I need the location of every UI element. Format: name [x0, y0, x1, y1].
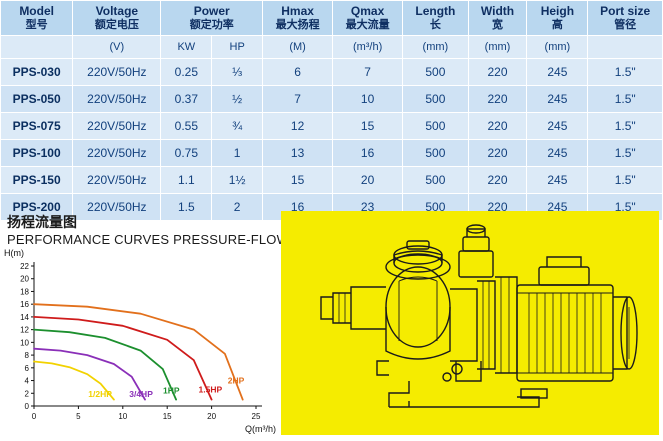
cell-heigh: 245: [527, 140, 588, 167]
pump-drawing-panel: [281, 211, 659, 435]
cell-length: 500: [403, 140, 469, 167]
cell-kw: 1.1: [161, 167, 212, 194]
svg-text:0: 0: [25, 402, 30, 411]
cell-hp: ½: [212, 86, 263, 113]
svg-text:15: 15: [163, 412, 172, 421]
svg-text:22: 22: [20, 262, 29, 271]
svg-text:0: 0: [32, 412, 37, 421]
table-row: PPS-050 220V/50Hz 0.37 ½ 7 10 500 220 24…: [1, 86, 663, 113]
unit-cell-heigh: (mm): [527, 36, 588, 59]
curve-label-1HP: 1HP: [163, 386, 180, 396]
svg-text:20: 20: [20, 275, 29, 284]
cell-hmax: 12: [263, 113, 333, 140]
table-row: PPS-075 220V/50Hz 0.55 ¾ 12 15 500 220 2…: [1, 113, 663, 140]
cell-port: 1.5": [588, 113, 663, 140]
table-unit-row: (V) KW HP (M) (m³/h) (mm) (mm) (mm): [1, 36, 663, 59]
svg-text:6: 6: [25, 364, 30, 373]
cell-kw: 0.25: [161, 59, 212, 86]
section-title-en: PERFORMANCE CURVES PRESSURE-FLOW: [7, 232, 289, 247]
unit-cell-width: (mm): [468, 36, 527, 59]
cell-hp: ⅓: [212, 59, 263, 86]
cell-hmax: 7: [263, 86, 333, 113]
cell-model: PPS-075: [1, 113, 73, 140]
cell-heigh: 245: [527, 86, 588, 113]
cell-hmax: 6: [263, 59, 333, 86]
header-cell-length: Length 长: [403, 1, 469, 36]
table-row: PPS-030 220V/50Hz 0.25 ⅓ 6 7 500 220 245…: [1, 59, 663, 86]
cell-kw: 0.37: [161, 86, 212, 113]
performance-curve-chart: H(m) Q(m³/h) 024681012141618202205101520…: [4, 248, 274, 433]
cell-width: 220: [468, 86, 527, 113]
cell-model: PPS-100: [1, 140, 73, 167]
unit-cell-hp: HP: [212, 36, 263, 59]
section-title-cn: 扬程流量图: [7, 212, 77, 232]
curve-label-2HP: 2HP: [228, 375, 245, 385]
unit-cell-length: (mm): [403, 36, 469, 59]
table-row: PPS-100 220V/50Hz 0.75 1 13 16 500 220 2…: [1, 140, 663, 167]
cell-voltage: 220V/50Hz: [73, 167, 161, 194]
cell-hp: 1: [212, 140, 263, 167]
cell-heigh: 245: [527, 59, 588, 86]
svg-text:18: 18: [20, 287, 29, 296]
cell-voltage: 220V/50Hz: [73, 59, 161, 86]
cell-model: PPS-150: [1, 167, 73, 194]
cell-qmax: 16: [333, 140, 403, 167]
svg-text:10: 10: [20, 338, 29, 347]
cell-kw: 0.55: [161, 113, 212, 140]
cell-width: 220: [468, 140, 527, 167]
cell-length: 500: [403, 59, 469, 86]
cell-length: 500: [403, 86, 469, 113]
cell-hmax: 15: [263, 167, 333, 194]
curve-label-1-5HP: 1.5HP: [199, 384, 223, 394]
cell-port: 1.5": [588, 167, 663, 194]
unit-cell-port: [588, 36, 663, 59]
cell-model: PPS-030: [1, 59, 73, 86]
cell-qmax: 20: [333, 167, 403, 194]
cell-hp: 1½: [212, 167, 263, 194]
pump-line-drawing: [281, 211, 659, 435]
header-cell-power: Power 额定功率: [161, 1, 263, 36]
cell-width: 220: [468, 167, 527, 194]
header-cell-model: Model 型号: [1, 1, 73, 36]
svg-text:4: 4: [25, 377, 30, 386]
cell-voltage: 220V/50Hz: [73, 113, 161, 140]
cell-voltage: 220V/50Hz: [73, 140, 161, 167]
cell-port: 1.5": [588, 86, 663, 113]
svg-text:25: 25: [252, 412, 261, 421]
cell-heigh: 245: [527, 167, 588, 194]
cell-kw: 1.5: [161, 194, 212, 221]
cell-qmax: 10: [333, 86, 403, 113]
cell-width: 220: [468, 113, 527, 140]
cell-hp: ¾: [212, 113, 263, 140]
chart-plot-area: 024681012141618202205101520251/2HP3/4HP1…: [4, 248, 274, 433]
page-root: Model 型号 Voltage 额定电压 Power 额定功率 Hmax 最大…: [0, 0, 663, 441]
header-cell-qmax: Qmax 最大流量: [333, 1, 403, 36]
table-row: PPS-150 220V/50Hz 1.1 1½ 15 20 500 220 2…: [1, 167, 663, 194]
unit-cell-kw: KW: [161, 36, 212, 59]
unit-cell-qmax: (m³/h): [333, 36, 403, 59]
curve-label-1-2HP: 1/2HP: [88, 389, 112, 399]
header-cell-voltage: Voltage 额定电压: [73, 1, 161, 36]
cell-qmax: 7: [333, 59, 403, 86]
svg-text:5: 5: [76, 412, 81, 421]
cell-length: 500: [403, 113, 469, 140]
svg-text:14: 14: [20, 313, 29, 322]
cell-voltage: 220V/50Hz: [73, 86, 161, 113]
cell-model: PPS-050: [1, 86, 73, 113]
svg-text:16: 16: [20, 300, 29, 309]
cell-length: 500: [403, 167, 469, 194]
svg-text:2: 2: [25, 389, 30, 398]
table-header-row: Model 型号 Voltage 额定电压 Power 额定功率 Hmax 最大…: [1, 1, 663, 36]
header-cell-heigh: Heigh 高: [527, 1, 588, 36]
cell-hmax: 13: [263, 140, 333, 167]
svg-text:12: 12: [20, 326, 29, 335]
cell-port: 1.5": [588, 140, 663, 167]
unit-cell-model: [1, 36, 73, 59]
cell-port: 1.5": [588, 59, 663, 86]
specification-table: Model 型号 Voltage 额定电压 Power 额定功率 Hmax 最大…: [0, 0, 663, 221]
cell-width: 220: [468, 59, 527, 86]
svg-text:20: 20: [207, 412, 216, 421]
header-cell-hmax: Hmax 最大扬程: [263, 1, 333, 36]
cell-hp: 2: [212, 194, 263, 221]
cell-voltage: 220V/50Hz: [73, 194, 161, 221]
curve-label-3-4HP: 3/4HP: [129, 389, 153, 399]
cell-heigh: 245: [527, 113, 588, 140]
header-cell-width: Width 宽: [468, 1, 527, 36]
svg-text:8: 8: [25, 351, 30, 360]
header-cell-port-size: Port size 管径: [588, 1, 663, 36]
cell-qmax: 15: [333, 113, 403, 140]
cell-kw: 0.75: [161, 140, 212, 167]
unit-cell-voltage: (V): [73, 36, 161, 59]
svg-text:10: 10: [118, 412, 127, 421]
unit-cell-hmax: (M): [263, 36, 333, 59]
